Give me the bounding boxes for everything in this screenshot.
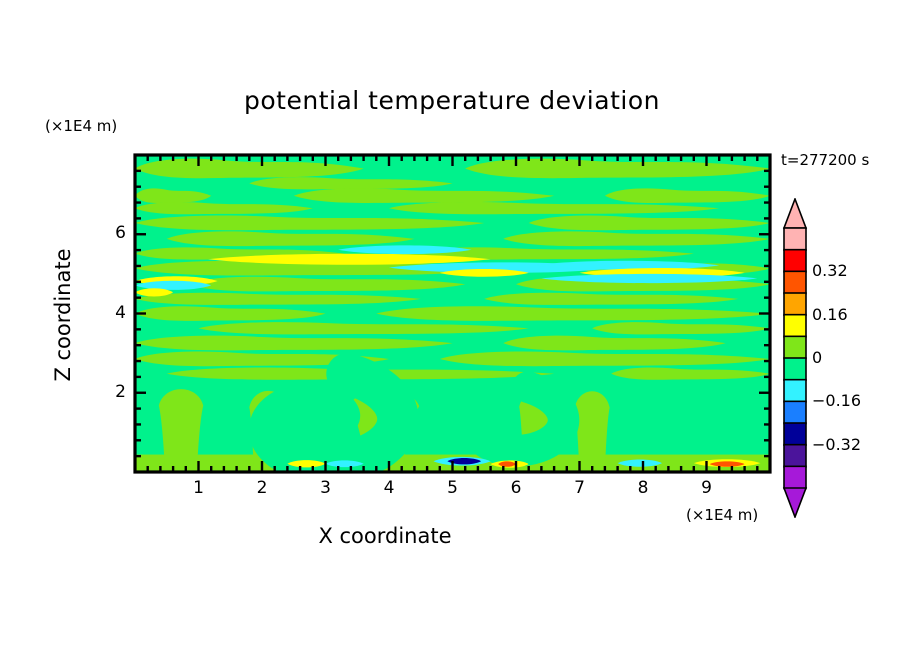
- y-axis-title: Z coordinate: [51, 205, 75, 425]
- y-tick-label: 4: [104, 303, 126, 323]
- contour-plot-figure: potential temperature deviation (×1E4 m)…: [0, 0, 904, 654]
- colorbar-band[interactable]: [784, 423, 806, 445]
- colorbar-tick-label: 0.16: [812, 305, 848, 324]
- x-axis-unit-label: (×1E4 m): [686, 506, 758, 524]
- x-tick-label: 4: [374, 478, 404, 498]
- x-axis-title: X coordinate: [0, 524, 770, 548]
- axis-frame: [129, 149, 789, 489]
- colorbar-band[interactable]: [784, 466, 806, 488]
- colorbar-tick-label: −0.16: [812, 391, 861, 410]
- colorbar-band[interactable]: [784, 271, 806, 293]
- y-tick-label: 6: [104, 223, 126, 243]
- colorbar-band[interactable]: [784, 228, 806, 250]
- x-tick-label: 5: [438, 478, 468, 498]
- colorbar-band[interactable]: [784, 336, 806, 358]
- x-tick-label: 3: [311, 478, 341, 498]
- y-tick-label: 2: [104, 382, 126, 402]
- colorbar[interactable]: [780, 198, 810, 518]
- colorbar-arrow-min: [784, 488, 806, 517]
- timestamp-label: t=277200 s: [781, 151, 869, 169]
- colorbar-band[interactable]: [784, 358, 806, 380]
- y-axis-unit-label: (×1E4 m): [45, 117, 117, 135]
- colorbar-tick-label: 0: [812, 348, 822, 367]
- colorbar-tick-label: 0.32: [812, 261, 848, 280]
- colorbar-band[interactable]: [784, 293, 806, 315]
- colorbar-band[interactable]: [784, 315, 806, 337]
- x-tick-label: 6: [501, 478, 531, 498]
- x-tick-label: 1: [184, 478, 214, 498]
- colorbar-arrow-max: [784, 199, 806, 228]
- x-tick-label: 8: [628, 478, 658, 498]
- colorbar-band[interactable]: [784, 401, 806, 423]
- x-tick-label: 7: [565, 478, 595, 498]
- colorbar-band[interactable]: [784, 445, 806, 467]
- colorbar-tick-label: −0.32: [812, 435, 861, 454]
- x-tick-label: 9: [692, 478, 722, 498]
- colorbar-band[interactable]: [784, 380, 806, 402]
- x-tick-label: 2: [247, 478, 277, 498]
- plot-border: [135, 155, 770, 472]
- page-title: potential temperature deviation: [0, 86, 904, 115]
- colorbar-band[interactable]: [784, 250, 806, 272]
